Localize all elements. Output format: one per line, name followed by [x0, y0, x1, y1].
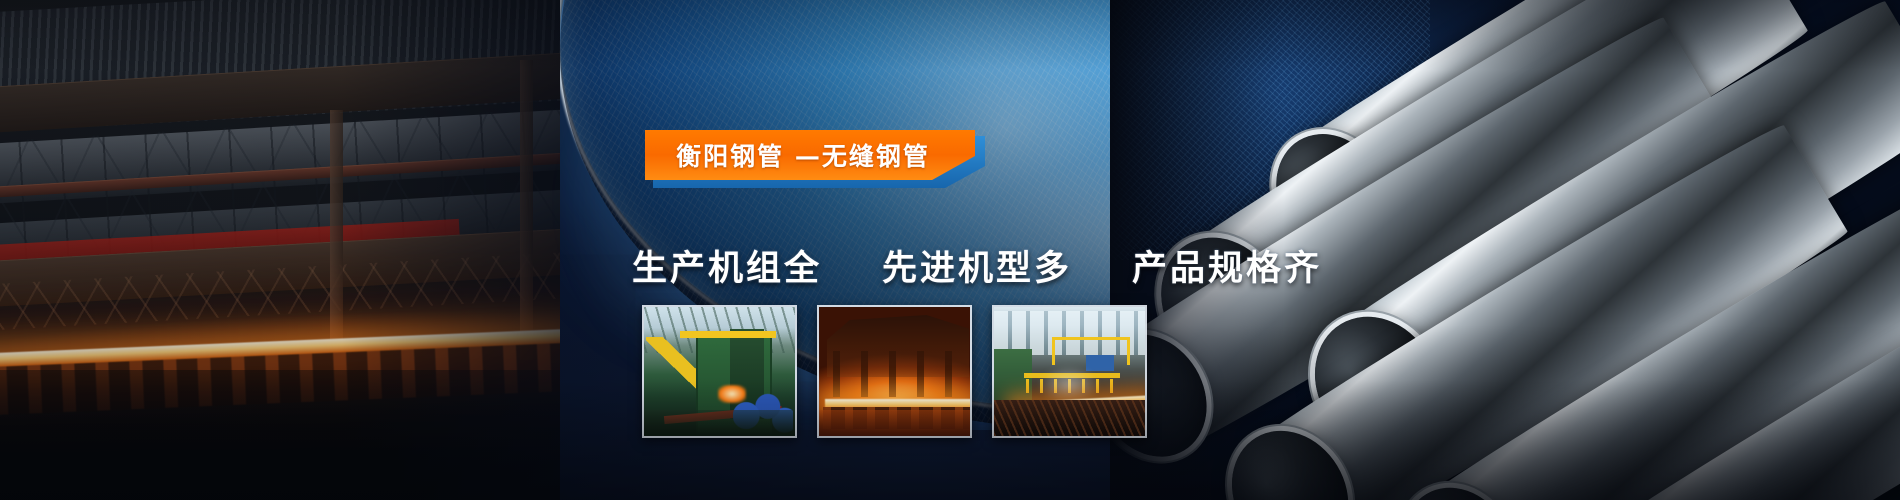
thumb1-yellow-gantry	[680, 331, 776, 338]
tagline-item-3: 产品规格齐	[1132, 240, 1322, 291]
thumb2-scene	[819, 307, 970, 436]
thumbnail-hot-billet-furnace[interactable]	[817, 305, 972, 438]
brand-tag-label: 衡阳钢管 —无缝钢管	[676, 137, 944, 173]
thumbnail-workshop-hot-bar[interactable]	[992, 305, 1147, 438]
thumb3-scene	[994, 307, 1145, 436]
thumb1-floor	[644, 410, 795, 436]
thumb2-floor	[819, 410, 970, 436]
thumbnail-rolling-mill-line[interactable]	[642, 305, 797, 438]
brand-tag-plate: 衡阳钢管 —无缝钢管	[645, 130, 975, 180]
tagline-item-2: 先进机型多	[882, 240, 1072, 291]
hero-banner: 衡阳钢管 —无缝钢管 生产机组全 先进机型多 产品规格齐	[0, 0, 1900, 500]
thumb2-frame-ribs	[833, 351, 969, 397]
thumb3-floor-scrap	[994, 400, 1145, 436]
thumb1-scene	[644, 307, 795, 436]
brand-tag[interactable]: 衡阳钢管 —无缝钢管	[645, 130, 985, 188]
thumbnail-strip	[642, 305, 1147, 438]
tagline-group: 生产机组全 先进机型多 产品规格齐	[632, 240, 1322, 291]
tagline-item-1: 生产机组全	[632, 240, 822, 291]
